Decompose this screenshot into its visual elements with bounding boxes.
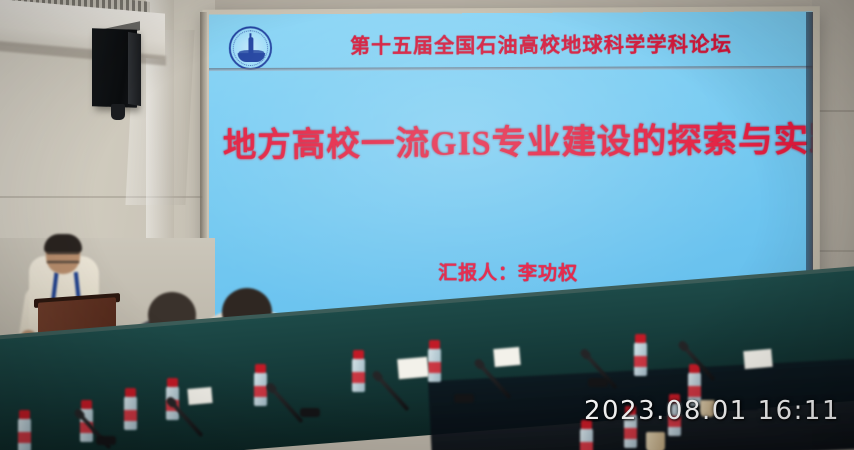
bottle-cap (255, 364, 266, 373)
water-bottle (18, 418, 31, 450)
university-emblem-icon (229, 26, 272, 70)
bottle-label (428, 362, 441, 373)
microphone-base (454, 394, 474, 403)
paper-sheet (397, 357, 429, 380)
paper-sheet (187, 387, 212, 405)
water-bottle (124, 396, 137, 430)
slide-main-title: 地方高校一流GIS专业建设的探索与实践 (223, 112, 799, 167)
slide-header-title: 第十五届全国石油高校地球科学学科论坛 (286, 28, 799, 59)
water-bottle (254, 372, 267, 406)
bottle-cap (353, 350, 364, 359)
camera-timestamp-overlay: 2023.08.01 16:11 (584, 396, 840, 426)
bottle-cap (81, 400, 92, 409)
paper-sheet (493, 347, 520, 367)
bottle-label (18, 432, 31, 443)
bottle-cap (429, 340, 440, 349)
microphone-base (300, 408, 320, 417)
microphone-base (96, 436, 116, 445)
paper-sheet (743, 349, 772, 369)
water-bottle (428, 348, 441, 382)
paper-cup (646, 432, 665, 450)
water-bottle (580, 428, 593, 450)
slide-header-divider (209, 66, 812, 71)
water-bottle (352, 358, 365, 392)
presenter-glasses (47, 252, 79, 263)
bottle-cap (125, 388, 136, 397)
microphone-base (588, 378, 608, 387)
wall-speaker-mount (111, 104, 125, 120)
bottle-cap (635, 334, 646, 343)
water-bottle (634, 342, 647, 376)
bottle-label (634, 356, 647, 367)
bottle-label (124, 410, 137, 421)
bottle-cap (167, 378, 178, 387)
bottle-cap (19, 410, 30, 419)
bottle-label (624, 428, 637, 439)
bottle-label (352, 372, 365, 383)
conference-photo: 第十五届全国石油高校地球科学学科论坛 地方高校一流GIS专业建设的探索与实践 汇… (0, 0, 854, 450)
presenter-hair (44, 234, 82, 253)
wall-speaker-side (128, 32, 141, 106)
bottle-label (580, 442, 593, 450)
bottle-label (254, 386, 267, 397)
